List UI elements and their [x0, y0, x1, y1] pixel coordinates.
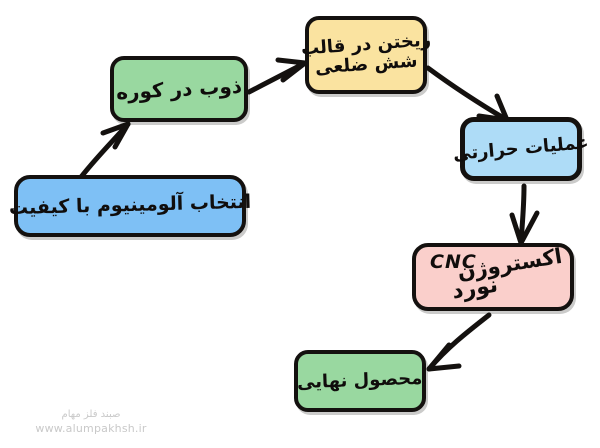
arrow-hex-mold-to-heat-treatment: [428, 68, 507, 120]
node-melt-furnace[interactable]: ذوب در کوره: [110, 56, 248, 122]
node-melt-furnace-label: ذوب در کوره: [116, 75, 243, 104]
node-select-aluminum[interactable]: انتخاب آلومینیوم با کیفیت: [14, 175, 246, 237]
node-extrusion-cnc[interactable]: اکستروژن CNC نورد: [412, 243, 574, 311]
watermark-company-name: صبند فلز مهام: [26, 408, 156, 422]
arrow-melt-furnace-to-hex-mold: [249, 60, 305, 92]
node-rolling-label: نورد: [450, 274, 499, 306]
node-final-product[interactable]: محصول نهایی: [294, 350, 426, 412]
node-hex-mold[interactable]: ریختن در قالب شش ضلعی: [305, 16, 427, 94]
node-hex-mold-label-line2: شش ضلعی: [314, 51, 418, 78]
node-extrusion-cnc-content: اکستروژن CNC نورد: [416, 247, 570, 307]
node-heat-treatment[interactable]: عملیات حرارتی: [460, 117, 582, 181]
node-select-aluminum-label: انتخاب آلومینیوم با کیفیت: [9, 192, 252, 220]
arrow-select-aluminum-to-melt-furnace: [78, 124, 128, 181]
flowchart-canvas: انتخاب آلومینیوم با کیفیت ذوب در کوره ری…: [0, 0, 600, 448]
node-final-product-label: محصول نهایی: [297, 369, 423, 394]
watermark-url: www.alumpakhsh.ir: [26, 422, 156, 437]
arrow-heat-treatment-to-extrusion-cnc: [512, 186, 537, 243]
node-heat-treatment-label: عملیات حرارتی: [452, 133, 589, 165]
watermark: صبند فلز مهام www.alumpakhsh.ir: [26, 408, 156, 436]
node-cnc-label: CNC: [430, 252, 477, 273]
arrow-extrusion-cnc-to-final-product: [429, 315, 489, 369]
